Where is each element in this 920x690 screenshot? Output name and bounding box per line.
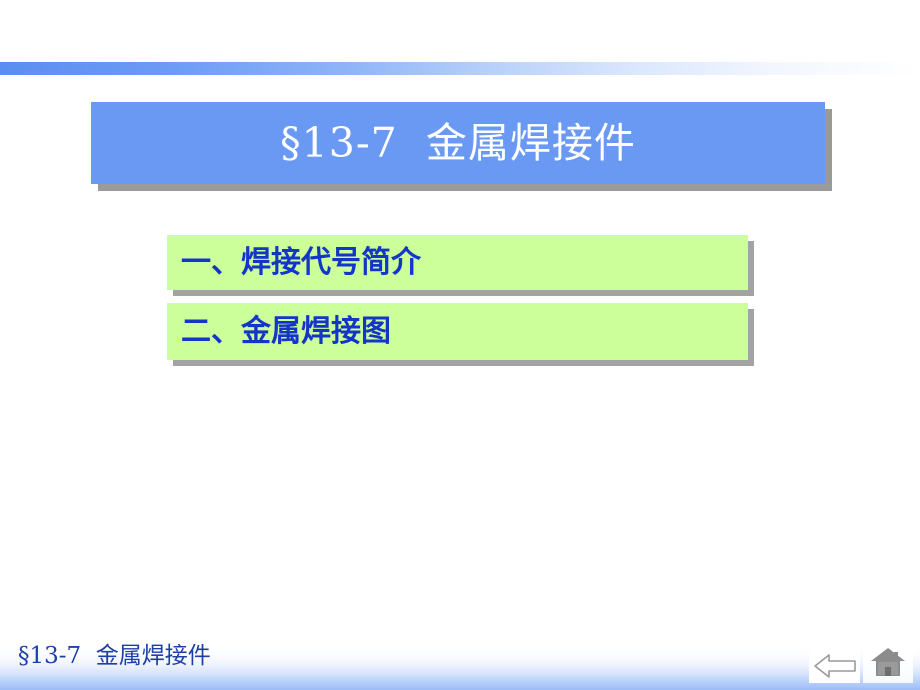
home-icon	[869, 645, 907, 679]
home-button[interactable]	[863, 641, 913, 683]
slide-canvas: §13-7 金属焊接件 一、焊接代号简介 二、金属焊接图 §13-7 金属焊接件	[0, 0, 920, 690]
page-title: §13-7 金属焊接件	[280, 123, 636, 164]
agenda-item-2[interactable]: 二、金属焊接图	[167, 303, 748, 360]
agenda-item-2-label: 二、金属焊接图	[167, 317, 391, 347]
back-button[interactable]	[809, 648, 860, 683]
agenda-item-1[interactable]: 一、焊接代号简介	[167, 235, 748, 290]
left-arrow-icon	[813, 653, 857, 679]
slide-title-banner: §13-7 金属焊接件	[91, 102, 825, 184]
agenda-item-1-label: 一、焊接代号简介	[167, 248, 421, 278]
footer-label: §13-7 金属焊接件	[18, 645, 211, 668]
top-gradient-rule	[0, 62, 920, 75]
